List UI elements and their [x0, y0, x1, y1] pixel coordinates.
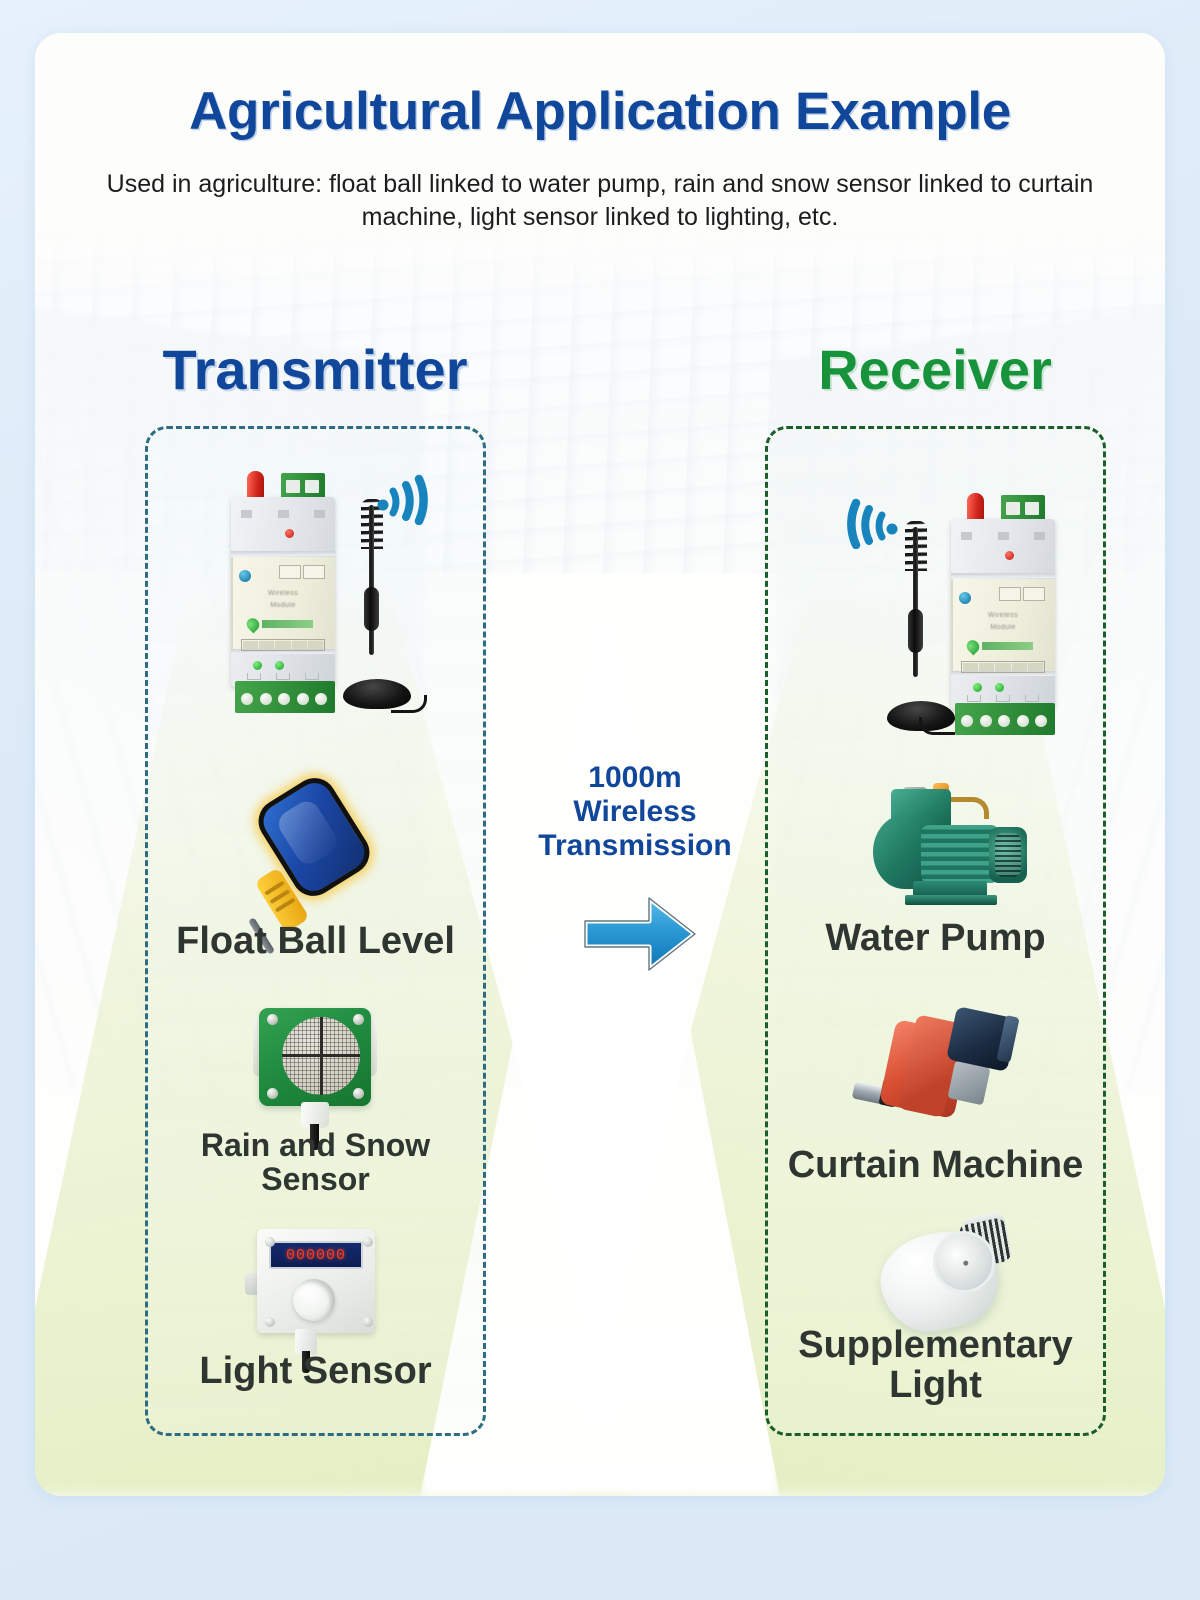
antenna-rod [913, 527, 918, 677]
module-sticker-icon [959, 592, 971, 604]
transmitter-item-label-0: Float Ball Level [145, 921, 486, 961]
wifi-signal-icon [373, 457, 445, 525]
pump-motor [921, 825, 999, 883]
water-pump-icon [863, 785, 1039, 935]
module-plug-box [279, 565, 325, 579]
terminal-screws [961, 715, 1047, 729]
antenna-joint [908, 609, 923, 653]
module-top-icons [961, 531, 1045, 541]
receiver-heading: Receiver [755, 337, 1115, 402]
status-led-green-1 [973, 683, 982, 692]
page-subtitle: Used in agriculture: float ball linked t… [35, 168, 1165, 234]
curtain-machine-icon [855, 1008, 1035, 1148]
curtain-mount-plate [947, 1061, 990, 1106]
power-led-red [285, 529, 294, 538]
transmitter-item-label-1: Rain and Snow Sensor [145, 1129, 486, 1197]
transmission-distance: 1000m [485, 761, 785, 795]
module-code-box [241, 639, 325, 651]
module-plug-box [999, 587, 1045, 601]
pump-fan-cover [989, 827, 1027, 883]
float-ball-highlight [274, 796, 342, 869]
pump-base-plate [905, 895, 997, 905]
sensor-screw-bl [267, 1088, 278, 1099]
light-sensor-display: 000000 [269, 1241, 363, 1269]
module-sticker-icon [239, 570, 251, 582]
transmission-word: Transmission [485, 829, 785, 863]
arrow-right-icon [583, 891, 698, 977]
module-label-line1: Wireless [951, 611, 1055, 620]
sensor-crosshair-horizontal [282, 1054, 360, 1057]
light-sensor-screw-tr [363, 1237, 373, 1247]
status-led-green-2 [275, 661, 284, 670]
module-label-line2: Module [951, 623, 1055, 632]
transmission-distance-block: 1000m Wireless Transmission [485, 761, 785, 863]
light-sensor-dome [293, 1279, 335, 1321]
wifi-signal-icon-receiver [830, 481, 902, 549]
module-seam-upper [231, 551, 335, 556]
antenna-rod [369, 505, 374, 655]
light-sensor-screw-br [363, 1317, 373, 1327]
module-seam-upper [951, 573, 1055, 578]
module-brand-logo [247, 617, 313, 631]
light-sensor-screw-bl [265, 1317, 275, 1327]
power-led-red [1005, 551, 1014, 560]
receiver-item-label-2: Supplementary Light [765, 1325, 1106, 1406]
transmitter-module: Wireless Module [223, 465, 343, 715]
terminal-screws [241, 693, 327, 707]
module-bottom-marks [959, 695, 1047, 703]
page-title: Agricultural Application Example [35, 81, 1165, 142]
transmitter-heading: Transmitter [135, 337, 495, 402]
receiver-module: Wireless Module [943, 487, 1063, 737]
module-top-icons [241, 509, 325, 519]
sensor-screw-tl [267, 1014, 278, 1025]
receiver-item-label-1: Curtain Machine [765, 1145, 1106, 1185]
sensor-screw-tr [353, 1014, 364, 1025]
antenna-joint [364, 587, 379, 631]
sensor-screw-br [353, 1088, 364, 1099]
module-label-line2: Module [231, 601, 335, 610]
transmission-type: Wireless [485, 795, 785, 829]
light-sensor-screw-tl [265, 1237, 275, 1247]
infographic-card: Agricultural Application Example Used in… [35, 33, 1165, 1496]
module-bottom-marks [239, 673, 327, 681]
status-led-green-2 [995, 683, 1004, 692]
module-label-line1: Wireless [231, 589, 335, 598]
transmitter-item-label-2: Light Sensor [145, 1351, 486, 1391]
header: Agricultural Application Example Used in… [35, 33, 1165, 303]
float-ball-sensor-icon [250, 778, 380, 943]
module-code-box [961, 661, 1045, 673]
module-brand-logo [967, 639, 1033, 653]
status-led-green-1 [253, 661, 262, 670]
receiver-item-label-0: Water Pump [765, 918, 1106, 958]
